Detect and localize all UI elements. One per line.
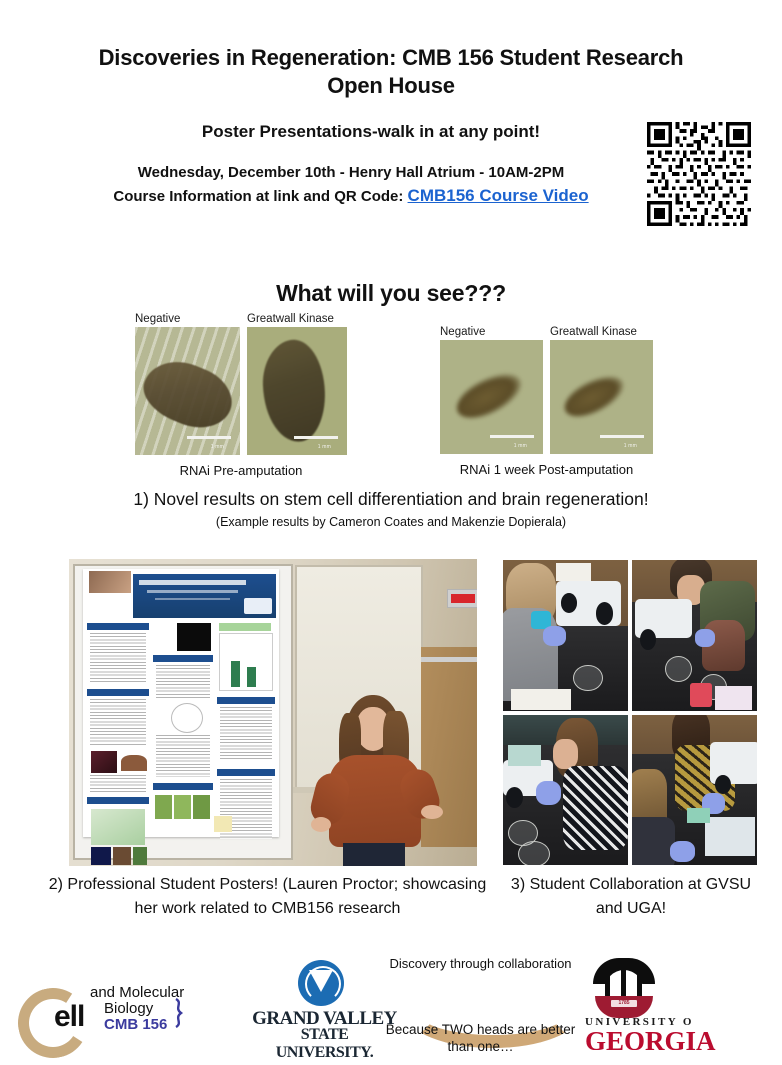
micrograph-negative-post: 1 mm [440, 340, 543, 454]
gvsu-line2: STATE UNIVERSITY. [252, 1026, 397, 1062]
scale-bar [294, 436, 338, 439]
gloved-hand [670, 841, 695, 862]
micrograph-label-greatwall: Greatwall Kinase [550, 326, 660, 340]
lab-photo-1 [503, 560, 628, 711]
micrograph-group-post-amputation: Negative Greatwall Kinase 1 mm 1 mm RNAi… [440, 326, 660, 477]
gvsu-mark-triangle [309, 970, 333, 992]
poster-figure [91, 751, 117, 773]
lab-pad [508, 745, 541, 766]
micrograph-negative-pre: 1 mm [135, 327, 240, 455]
research-poster [83, 569, 279, 837]
micrograph-labels-right: Negative Greatwall Kinase [440, 326, 660, 340]
poster-chart-bar [231, 661, 240, 687]
poster-figure [121, 755, 147, 771]
exit-sign [447, 589, 477, 608]
microscope-objective [640, 629, 656, 650]
micrograph-caption-right: RNAi 1 week Post-amputation [440, 462, 653, 477]
micrograph-caption-left: RNAi Pre-amputation [135, 463, 347, 478]
collaboration-block: Discovery through collaboration Because … [378, 956, 583, 971]
poster-figure [133, 847, 147, 865]
gloved-hand [536, 781, 561, 805]
petri-dish [665, 656, 692, 682]
red-container [690, 683, 713, 707]
scale-bar-label: 1 mm [318, 444, 331, 450]
lab-photo-2 [632, 560, 757, 711]
poster-body-text [90, 633, 146, 683]
micrograph-labels-left: Negative Greatwall Kinase [135, 313, 357, 327]
cmb156-course-video-link[interactable]: CMB156 Course Video [408, 186, 589, 205]
poster-section-header [217, 769, 275, 776]
micrograph-label-greatwall: Greatwall Kinase [247, 313, 357, 327]
poster-column-2 [153, 623, 213, 833]
two-headed-planarian-icon [406, 978, 554, 1022]
paper-stack [556, 563, 591, 581]
poster-figure [171, 703, 203, 733]
paper [715, 686, 753, 710]
microscope-objective [715, 775, 731, 795]
point-1-text: 1) Novel results on stem cell differenti… [0, 489, 782, 510]
door-push-bar [421, 657, 477, 662]
gloved-hand [543, 626, 566, 646]
uga-arch-icon: 1785 [593, 958, 655, 1010]
point-3-text: 3) Student Collaboration at GVSU and UGA… [500, 873, 762, 921]
planarian-body [450, 365, 528, 427]
poster-figure [113, 847, 131, 865]
cmb-logo-worm-icon [173, 998, 185, 1028]
petri-dish [518, 841, 550, 865]
poster-figure [174, 795, 191, 819]
uga-logo: 1785 UNIVERSITY O GEORGIA [585, 958, 782, 1050]
poster-section-header [153, 783, 213, 790]
poster-figure [193, 795, 210, 819]
poster-figure [91, 809, 145, 845]
qr-code-icon [647, 122, 751, 226]
poster-title-line [139, 580, 246, 585]
poster-author-line [147, 590, 238, 593]
micrograph-images-right: 1 mm 1 mm [440, 340, 660, 454]
cmb-logo-line1: and Molecular [90, 984, 184, 1001]
scale-bar [187, 436, 231, 439]
whiteboard [73, 564, 293, 860]
petri-dish [573, 665, 603, 691]
collaboration-title: Discovery through collaboration [378, 956, 583, 971]
gvsu-logo: GRAND VALLEY STATE UNIVERSITY. [252, 960, 397, 1046]
cmb-logo: ell and Molecular Biology CMB 156 [18, 980, 208, 1044]
micrograph-images-left: 1 mm 1 mm [135, 327, 357, 455]
poster-figure [219, 623, 271, 631]
student-plaid-shirt [563, 766, 628, 850]
planarian-body [559, 368, 630, 424]
gloved-hand [695, 629, 715, 647]
micrograph-greatwall-post: 1 mm [550, 340, 653, 454]
tray [705, 817, 755, 856]
lab-photo-4 [632, 715, 757, 866]
gvsu-mark [298, 960, 344, 1006]
poster-body-text [220, 707, 272, 761]
point-1-credit: (Example results by Cameron Coates and M… [0, 515, 782, 529]
lab-tape [687, 808, 710, 823]
poster-figure [177, 623, 211, 651]
hand-right [421, 805, 443, 819]
poster-body-text [156, 735, 210, 777]
microscope-objective [506, 787, 524, 808]
poster-body-text [156, 665, 210, 699]
scale-bar [600, 435, 644, 438]
uga-line2: GEORGIA [585, 1028, 716, 1050]
micrograph-label-negative: Negative [135, 313, 247, 327]
microscope-eyepiece [596, 602, 614, 625]
micrograph-label-negative: Negative [440, 326, 550, 340]
scale-bar-label: 1 mm [624, 443, 637, 449]
student-face [553, 739, 578, 769]
poster-chart [219, 633, 273, 691]
collaboration-subtitle: Because TWO heads are better than one… [378, 1022, 583, 1056]
microscope-objective [561, 593, 577, 613]
poster-body-text [90, 775, 146, 793]
planarian-body [262, 335, 327, 447]
uga-founding-year: 1785 [611, 1000, 637, 1007]
cmb-logo-ell: ell [54, 1002, 84, 1032]
qr-code[interactable] [647, 122, 751, 226]
scale-bar-label: 1 mm [211, 444, 224, 450]
poster-column-3 [217, 623, 275, 833]
what-will-you-see-heading: What will you see??? [0, 280, 782, 307]
scale-bar [490, 435, 534, 438]
poster-figure [91, 847, 111, 865]
poster-body-text [90, 699, 146, 747]
hand-left [311, 817, 331, 832]
lab-notebook [511, 689, 571, 710]
lab-photo-3 [503, 715, 628, 866]
student-2-body [632, 817, 675, 865]
poster-section-header [217, 697, 275, 704]
poster-logo [244, 598, 272, 614]
point-2-text: 2) Professional Student Posters! (Lauren… [40, 873, 495, 921]
jeans [343, 843, 405, 866]
poster-affiliation-line [155, 598, 230, 600]
poster-section-header [87, 689, 149, 696]
course-info-prefix: Course Information at link and QR Code: [113, 188, 407, 205]
sticky-note [214, 816, 232, 832]
cmb-logo-line2: Biology [104, 1000, 153, 1017]
lab-photo-grid [503, 560, 757, 865]
cmb-logo-line3: CMB 156 [104, 1016, 167, 1033]
poster-corner-image [89, 571, 131, 593]
page-title: Discoveries in Regeneration: CMB 156 Stu… [0, 44, 782, 100]
student-poster-photo [69, 559, 477, 866]
poster-figure [155, 795, 172, 819]
poster-column-1 [87, 623, 149, 833]
student-presenter [315, 695, 435, 866]
poster-title-banner [133, 574, 276, 618]
micrograph-group-pre-amputation: Negative Greatwall Kinase 1 mm 1 mm RNAi… [135, 313, 357, 478]
micrograph-greatwall-pre: 1 mm [247, 327, 347, 455]
poster-section-header [87, 623, 149, 630]
poster-chart-bar [247, 667, 256, 687]
scale-bar-label: 1 mm [514, 443, 527, 449]
poster-section-header [153, 655, 213, 662]
poster-section-header [87, 797, 149, 804]
